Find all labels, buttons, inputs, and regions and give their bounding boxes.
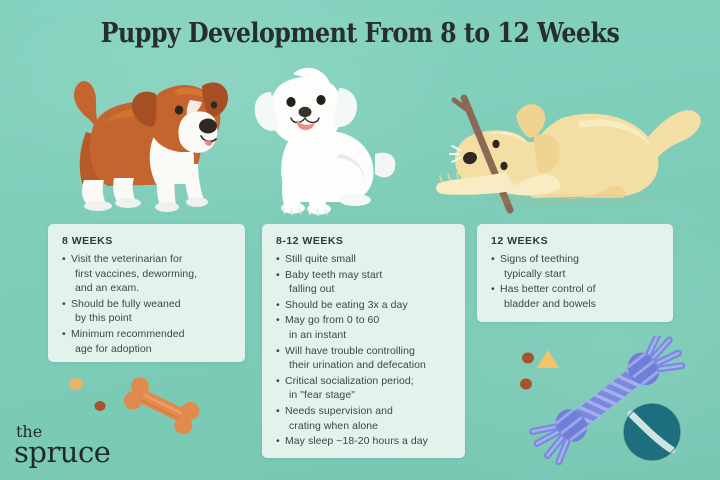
list-item: • Signs of teething typically start	[490, 252, 660, 281]
list-item-line: age for adoption	[71, 342, 232, 357]
list-item-line: Has better control of	[500, 283, 596, 295]
panel-8-12-weeks: 8-12 WEEKS • Still quite small • Baby te…	[262, 224, 465, 458]
list-item-line: Visit the veterinarian for	[71, 253, 182, 265]
list-item: • Needs supervision and crating when alo…	[275, 404, 452, 433]
list-item-line: Still quite small	[285, 253, 356, 265]
list-item: • Should be fully weaned by this point	[61, 297, 232, 326]
bullet-glyph: •	[491, 282, 495, 297]
list-item-line: Baby teeth may start	[285, 269, 382, 281]
list-item: • May sleep ~18-20 hours a day	[275, 434, 452, 449]
list-item-line: crating when alone	[285, 419, 452, 434]
white-puppy-illustration	[243, 58, 399, 224]
panel-12-weeks-heading: 12 WEEKS	[491, 235, 660, 247]
bullet-glyph: •	[62, 327, 66, 342]
panel-12-weeks-list: • Signs of teething typically start • Ha…	[490, 252, 660, 311]
panel-8-12-weeks-list: • Still quite small • Baby teeth may sta…	[275, 252, 452, 449]
list-item-line: Will have trouble controlling	[285, 345, 415, 357]
list-item-line: and an exam.	[71, 281, 232, 296]
rope-toy-and-ball-illustration	[500, 336, 716, 476]
yellow-puppy-chewing-stick-illustration	[412, 80, 708, 222]
list-item-line: their urination and defecation	[285, 358, 452, 373]
list-item: • Visit the veterinarian for first vacci…	[61, 252, 232, 296]
list-item: • Will have trouble controlling their ur…	[275, 344, 452, 373]
list-item-line: first vaccines, deworming,	[71, 267, 232, 282]
list-item-line: in an instant	[285, 328, 452, 343]
bullet-glyph: •	[62, 252, 66, 267]
panel-12-weeks: 12 WEEKS • Signs of teething typically s…	[477, 224, 673, 322]
list-item-line: May sleep ~18-20 hours a day	[285, 435, 428, 447]
logo-line-spruce: spruce	[14, 438, 110, 467]
bullet-glyph: •	[276, 268, 280, 283]
list-item-line: Critical socialization period;	[285, 375, 414, 387]
list-item: • May go from 0 to 60 in an instant	[275, 313, 452, 342]
bullet-glyph: •	[276, 434, 280, 449]
list-item-line: Signs of teething	[500, 253, 579, 265]
list-item: • Still quite small	[275, 252, 452, 267]
list-item: • Should be eating 3x a day	[275, 298, 452, 313]
list-item: • Minimum recommended age for adoption	[61, 327, 232, 356]
list-item-line: bladder and bowels	[500, 297, 660, 312]
panel-8-12-weeks-heading: 8-12 WEEKS	[276, 235, 452, 247]
panel-8-weeks-heading: 8 WEEKS	[62, 235, 232, 247]
list-item-line: May go from 0 to 60	[285, 314, 379, 326]
bullet-glyph: •	[62, 297, 66, 312]
list-item: • Critical socialization period; in "fea…	[275, 374, 452, 403]
bullet-glyph: •	[276, 298, 280, 313]
list-item-line: by this point	[71, 311, 232, 326]
panel-8-weeks: 8 WEEKS • Visit the veterinarian for fir…	[48, 224, 245, 362]
bullet-glyph: •	[276, 344, 280, 359]
page-title: Puppy Development From 8 to 12 Weeks	[43, 18, 677, 49]
list-item-line: Should be fully weaned	[71, 298, 181, 310]
the-spruce-logo: the spruce	[14, 424, 110, 467]
bullet-glyph: •	[491, 252, 495, 267]
list-item-line: falling out	[285, 282, 452, 297]
list-item-line: Should be eating 3x a day	[285, 299, 408, 311]
list-item: • Has better control of bladder and bowe…	[490, 282, 660, 311]
panel-8-weeks-list: • Visit the veterinarian for first vacci…	[61, 252, 232, 356]
bullet-glyph: •	[276, 374, 280, 389]
brown-puppy-illustration	[62, 52, 242, 224]
list-item-line: Needs supervision and	[285, 405, 393, 417]
list-item-line: typically start	[500, 267, 660, 282]
infographic-canvas: Puppy Development From 8 to 12 Weeks	[0, 0, 720, 480]
list-item-line: Minimum recommended	[71, 328, 185, 340]
bullet-glyph: •	[276, 313, 280, 328]
bullet-glyph: •	[276, 252, 280, 267]
list-item: • Baby teeth may start falling out	[275, 268, 452, 297]
bullet-glyph: •	[276, 404, 280, 419]
list-item-line: in "fear stage"	[285, 388, 452, 403]
